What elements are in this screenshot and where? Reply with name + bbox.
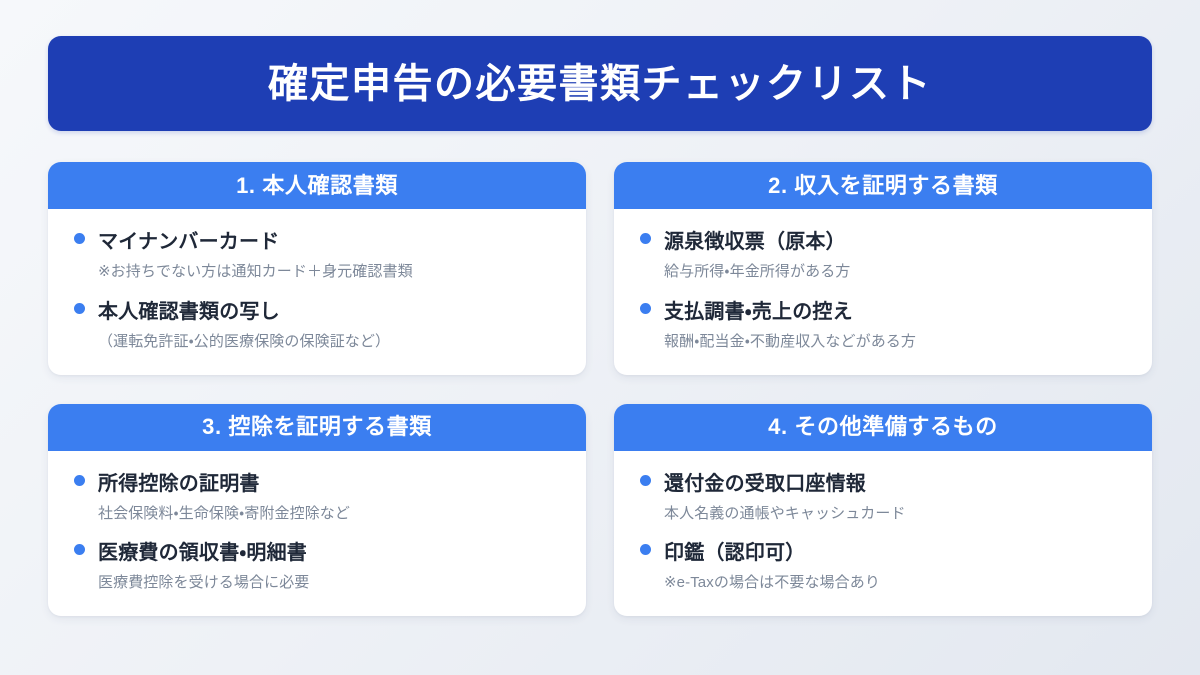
- card-body-4: 還付金の受取口座情報 本人名義の通帳やキャッシュカード 印鑑（認印可） ※e-T…: [614, 451, 1152, 617]
- card-heading-4: 4. その他準備するもの: [768, 416, 998, 438]
- item-title-row: 支払調書・売上の控え: [640, 299, 1126, 325]
- bullet-dot-icon: [640, 544, 651, 555]
- bullet-dot-icon: [640, 303, 651, 314]
- item-title-row: 源泉徴収票（原本）: [640, 229, 1126, 255]
- item-title-row: 医療費の領収書・明細書: [74, 540, 560, 566]
- bullet-dot-icon: [74, 303, 85, 314]
- card-heading-1: 1. 本人確認書類: [236, 175, 398, 197]
- bullet-dot-icon: [640, 475, 651, 486]
- list-item[interactable]: マイナンバーカード ※お持ちでない方は通知カード＋身元確認書類: [74, 229, 560, 283]
- item-title: マイナンバーカード: [98, 229, 279, 255]
- item-subtitle: 報酬・配当金・不動産収入などがある方: [664, 331, 1126, 353]
- item-subtitle: 医療費控除を受ける場合に必要: [98, 572, 560, 594]
- item-title-row: 還付金の受取口座情報: [640, 471, 1126, 497]
- item-subtitle: ※お持ちでない方は通知カード＋身元確認書類: [98, 261, 560, 283]
- item-title: 還付金の受取口座情報: [664, 471, 866, 497]
- item-subtitle: 給与所得・年金所得がある方: [664, 261, 1126, 283]
- list-item[interactable]: 医療費の領収書・明細書 医療費控除を受ける場合に必要: [74, 540, 560, 594]
- card-body-2: 源泉徴収票（原本） 給与所得・年金所得がある方 支払調書・売上の控え 報酬・配当…: [614, 209, 1152, 375]
- card-header-4: 4. その他準備するもの: [614, 404, 1152, 451]
- item-subtitle: 社会保険料・生命保険・寄附金控除など: [98, 503, 560, 525]
- checklist-card-1: 1. 本人確認書類 マイナンバーカード ※お持ちでない方は通知カード＋身元確認書…: [48, 162, 586, 375]
- item-title-row: 印鑑（認印可）: [640, 540, 1126, 566]
- item-title: 支払調書・売上の控え: [664, 299, 853, 325]
- card-header-2: 2. 収入を証明する書類: [614, 162, 1152, 209]
- checklist-card-2: 2. 収入を証明する書類 源泉徴収票（原本） 給与所得・年金所得がある方 支払調…: [614, 162, 1152, 375]
- list-item[interactable]: 本人確認書類の写し （運転免許証・公的医療保険の保険証など）: [74, 299, 560, 353]
- item-title: 印鑑（認印可）: [664, 540, 805, 566]
- item-subtitle: 本人名義の通帳やキャッシュカード: [664, 503, 1126, 525]
- item-title: 所得控除の証明書: [98, 471, 260, 497]
- title-banner: 確定申告の必要書類チェックリスト: [48, 36, 1152, 131]
- item-title: 本人確認書類の写し: [98, 299, 280, 325]
- card-heading-3: 3. 控除を証明する書類: [202, 416, 432, 438]
- item-title-row: 本人確認書類の写し: [74, 299, 560, 325]
- checklist-card-3: 3. 控除を証明する書類 所得控除の証明書 社会保険料・生命保険・寄附金控除など…: [48, 404, 586, 617]
- list-item[interactable]: 還付金の受取口座情報 本人名義の通帳やキャッシュカード: [640, 471, 1126, 525]
- bullet-dot-icon: [74, 233, 85, 244]
- checklist-page: 確定申告の必要書類チェックリスト 1. 本人確認書類 マイナンバーカード ※お持…: [0, 0, 1200, 675]
- item-title-row: マイナンバーカード: [74, 229, 560, 255]
- card-header-3: 3. 控除を証明する書類: [48, 404, 586, 451]
- card-body-1: マイナンバーカード ※お持ちでない方は通知カード＋身元確認書類 本人確認書類の写…: [48, 209, 586, 375]
- bullet-dot-icon: [74, 475, 85, 486]
- item-title: 源泉徴収票（原本）: [664, 229, 846, 255]
- item-subtitle: ※e-Taxの場合は不要な場合あり: [664, 572, 1126, 594]
- bullet-dot-icon: [74, 544, 85, 555]
- card-heading-2: 2. 収入を証明する書類: [768, 175, 998, 197]
- checklist-card-grid: 1. 本人確認書類 マイナンバーカード ※お持ちでない方は通知カード＋身元確認書…: [48, 162, 1152, 616]
- list-item[interactable]: 源泉徴収票（原本） 給与所得・年金所得がある方: [640, 229, 1126, 283]
- list-item[interactable]: 所得控除の証明書 社会保険料・生命保険・寄附金控除など: [74, 471, 560, 525]
- checklist-card-4: 4. その他準備するもの 還付金の受取口座情報 本人名義の通帳やキャッシュカード…: [614, 404, 1152, 617]
- page-title: 確定申告の必要書類チェックリスト: [268, 64, 932, 104]
- list-item[interactable]: 支払調書・売上の控え 報酬・配当金・不動産収入などがある方: [640, 299, 1126, 353]
- list-item[interactable]: 印鑑（認印可） ※e-Taxの場合は不要な場合あり: [640, 540, 1126, 594]
- card-header-1: 1. 本人確認書類: [48, 162, 586, 209]
- bullet-dot-icon: [640, 233, 651, 244]
- item-title-row: 所得控除の証明書: [74, 471, 560, 497]
- item-title: 医療費の領収書・明細書: [98, 540, 307, 566]
- card-body-3: 所得控除の証明書 社会保険料・生命保険・寄附金控除など 医療費の領収書・明細書 …: [48, 451, 586, 617]
- item-subtitle: （運転免許証・公的医療保険の保険証など）: [98, 331, 560, 353]
